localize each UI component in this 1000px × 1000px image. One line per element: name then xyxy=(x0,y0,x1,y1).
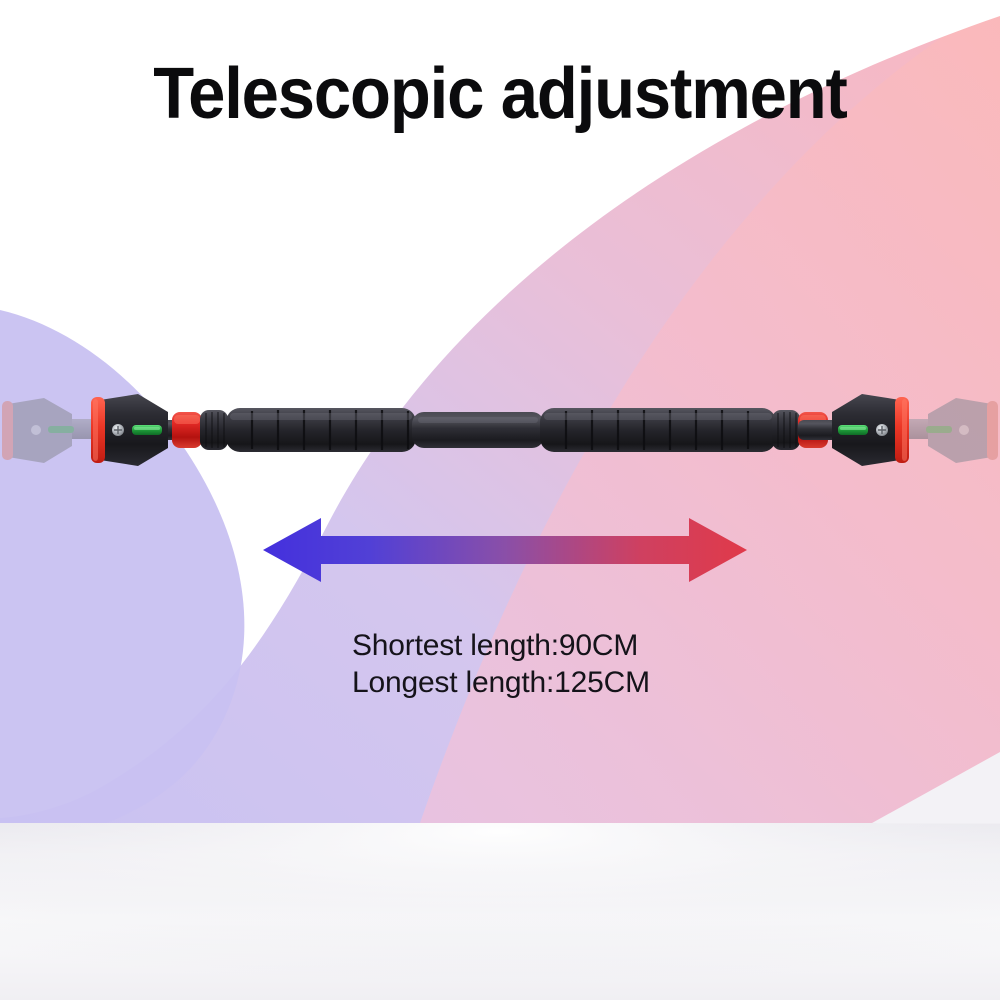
arrow-body xyxy=(263,518,747,582)
page-title: Telescopic adjustment xyxy=(35,52,965,136)
left-ribbed-grip xyxy=(226,408,416,452)
longest-length-label: Longest length:125CM xyxy=(352,664,772,701)
length-spec-block: Shortest length:90CM Longest length:125C… xyxy=(352,627,772,701)
left-locking-collar xyxy=(172,410,228,450)
right-mounting-plate xyxy=(832,394,909,466)
product-marketing-image: Telescopic adjustment xyxy=(0,0,1000,1000)
background-graphic xyxy=(0,0,1000,1000)
double-headed-adjustment-arrow xyxy=(255,512,755,588)
left-mounting-plate xyxy=(91,394,168,466)
floor-highlight xyxy=(0,823,1000,1000)
product-illustration xyxy=(0,368,1000,493)
right-ribbed-grip xyxy=(540,408,776,452)
shortest-length-label: Shortest length:90CM xyxy=(352,627,772,664)
